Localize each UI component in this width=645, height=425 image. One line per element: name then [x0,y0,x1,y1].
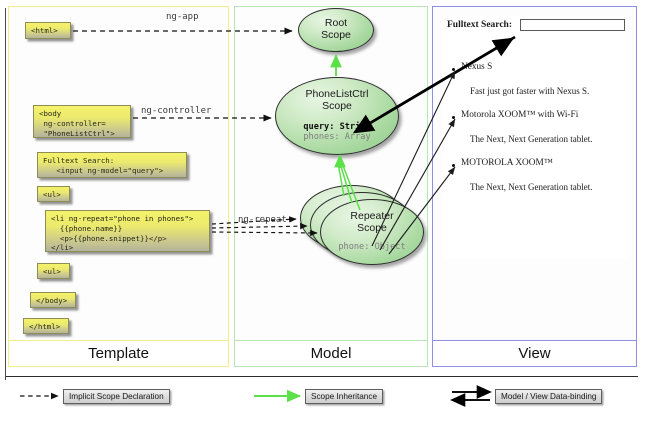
template-column [8,6,229,363]
scope-repeater-title-1: Repeater [350,211,393,223]
template-box-search: Fulltext Search: <input ng-model="query"… [37,152,187,178]
scope-phonelistctrl-title-1: PhoneListCtrl [305,89,368,101]
scope-root-title-2: Scope [321,30,351,42]
phone-bullet-0 [452,68,455,71]
left-rule [5,8,6,380]
fulltext-search-input[interactable] [520,19,625,31]
edge-label-ng-repeat: ng-repeat [238,215,287,225]
legend-divider [6,376,638,377]
scope-phonelistctrl-title-2: Scope [322,101,352,113]
phone-name-0: Nexus S [461,62,492,72]
scope-repeater-prop-phone: phone: Object [338,242,405,253]
template-box-ul-open: <ul> [37,186,70,202]
scope-phonelistctrl: PhoneListCtrl Scope query: String phones… [275,77,399,155]
column-footer-model: Model [234,340,428,367]
legend-item-scope-inheritance: Scope Inheritance [305,389,383,404]
template-box-html-open: <html> [25,22,71,39]
phone-name-2: MOTOROLA XOOM™ [461,158,553,168]
phone-snippet-1: The Next, Next Generation tablet. [470,134,592,144]
template-box-li-repeat: <li ng-repeat="phone in phones"> {{phone… [45,210,210,252]
diagram-canvas: <html> <body ng-controller= "PhoneListCt… [0,0,645,425]
edge-label-ng-controller: ng-controller [141,106,211,116]
phone-bullet-1 [452,116,455,119]
phone-name-1: Motorola XOOM™ with Wi-Fi [461,110,578,120]
model-column [234,6,428,363]
scope-repeater-title-2: Scope [357,223,387,235]
phone-bullet-2 [452,164,455,167]
column-footer-template: Template [8,340,229,367]
template-box-body-close: </body> [30,292,76,308]
edge-label-ng-app: ng-app [166,12,199,22]
view-render-pane: Fulltext Search: Nexus S Fast just got f… [443,16,628,259]
scope-phonelistctrl-prop-phones: phones: Array [303,132,370,143]
template-box-html-close: </html> [23,318,69,334]
scope-phonelistctrl-prop-query: query: String [303,122,370,133]
legend-item-implicit-scope-declaration: Implicit Scope Declaration [63,389,170,404]
scope-root: Root Scope [298,8,374,52]
phone-snippet-2: The Next, Next Generation tablet. [470,182,592,192]
scope-repeater: Repeater Scope phone: Object [320,199,424,265]
legend-item-model-view-data-binding: Model / View Data-binding [495,389,602,404]
template-box-ul-close: <ul> [37,263,70,279]
fulltext-search-label: Fulltext Search: [447,20,512,30]
template-box-body-open: <body ng-controller= "PhoneListCtrl"> [33,105,131,138]
column-footer-view: View [432,340,637,367]
phone-snippet-0: Fast just got faster with Nexus S. [470,86,589,96]
